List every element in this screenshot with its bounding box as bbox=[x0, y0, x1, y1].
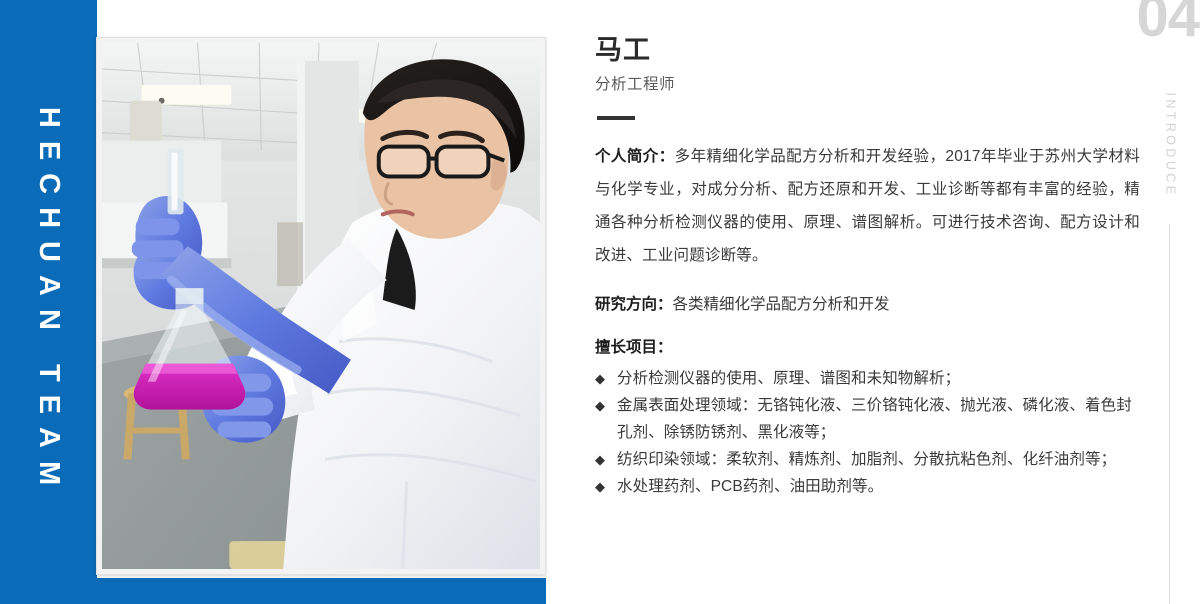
intro-body: 多年精细化学品配方分析和开发经验，2017年毕业于苏州大学材料与化学专业，对成分… bbox=[595, 148, 1140, 264]
section-number: 04 bbox=[1136, 0, 1199, 46]
intro-label: 个人简介： bbox=[595, 148, 675, 165]
diamond-bullet-icon: ◆ bbox=[595, 392, 617, 419]
profile-photo bbox=[102, 43, 540, 569]
list-item: ◆ 金属表面处理领域：无铬钝化液、三价铬钝化液、抛光液、磷化液、着色封孔剂、除锈… bbox=[595, 392, 1140, 446]
slide-root: HECHUAN TEAM bbox=[0, 0, 1201, 604]
profile-content: 马工 分析工程师 个人简介：多年精细化学品配方分析和开发经验，2017年毕业于苏… bbox=[595, 0, 1140, 604]
intro-paragraph: 个人简介：多年精细化学品配方分析和开发经验，2017年毕业于苏州大学材料与化学专… bbox=[595, 140, 1140, 272]
page-title: 马工 bbox=[595, 28, 651, 67]
section-rail: 04 INTRODUCE bbox=[1140, 0, 1201, 604]
list-item-label: 水处理药剂、PCB药剂、油田助剂等。 bbox=[617, 473, 1140, 500]
diamond-bullet-icon: ◆ bbox=[595, 473, 617, 500]
skills-title: 擅长项目： bbox=[595, 333, 1140, 362]
list-item: ◆ 纺织印染领域：柔软剂、精炼剂、加脂剂、分散抗粘色剂、化纤油剂等； bbox=[595, 446, 1140, 473]
intro-block: 个人简介：多年精细化学品配方分析和开发经验，2017年毕业于苏州大学材料与化学专… bbox=[595, 140, 1140, 272]
list-item-label: 金属表面处理领域：无铬钝化液、三价铬钝化液、抛光液、磷化液、着色封孔剂、除锈防锈… bbox=[617, 392, 1140, 446]
list-item: ◆ 水处理药剂、PCB药剂、油田助剂等。 bbox=[595, 473, 1140, 500]
research-line: 研究方向：各类精细化学品配方分析和开发 bbox=[595, 292, 1140, 318]
brand-vertical-text: HECHUAN TEAM bbox=[0, 0, 97, 604]
lab-photo-icon bbox=[102, 43, 540, 569]
list-item-label: 分析检测仪器的使用、原理、谱图和未知物解析； bbox=[617, 365, 1140, 392]
diamond-bullet-icon: ◆ bbox=[595, 365, 617, 392]
research-label: 研究方向： bbox=[595, 296, 673, 313]
list-item-label: 纺织印染领域：柔软剂、精炼剂、加脂剂、分散抗粘色剂、化纤油剂等； bbox=[617, 446, 1140, 473]
skills-block: 擅长项目： ◆ 分析检测仪器的使用、原理、谱图和未知物解析； ◆ 金属表面处理领… bbox=[595, 333, 1140, 500]
research-body: 各类精细化学品配方分析和开发 bbox=[673, 296, 890, 313]
list-item: ◆ 分析检测仪器的使用、原理、谱图和未知物解析； bbox=[595, 365, 1140, 392]
rail-divider-line bbox=[1169, 225, 1170, 604]
diamond-bullet-icon: ◆ bbox=[595, 446, 617, 473]
brand-label: HECHUAN TEAM bbox=[32, 106, 65, 497]
section-label: INTRODUCE bbox=[1164, 93, 1178, 198]
section-label-vertical: INTRODUCE bbox=[1140, 82, 1201, 212]
person-role: 分析工程师 bbox=[595, 72, 675, 94]
research-block: 研究方向：各类精细化学品配方分析和开发 bbox=[595, 292, 1140, 318]
title-divider bbox=[597, 116, 635, 120]
profile-photo-frame bbox=[96, 37, 546, 575]
